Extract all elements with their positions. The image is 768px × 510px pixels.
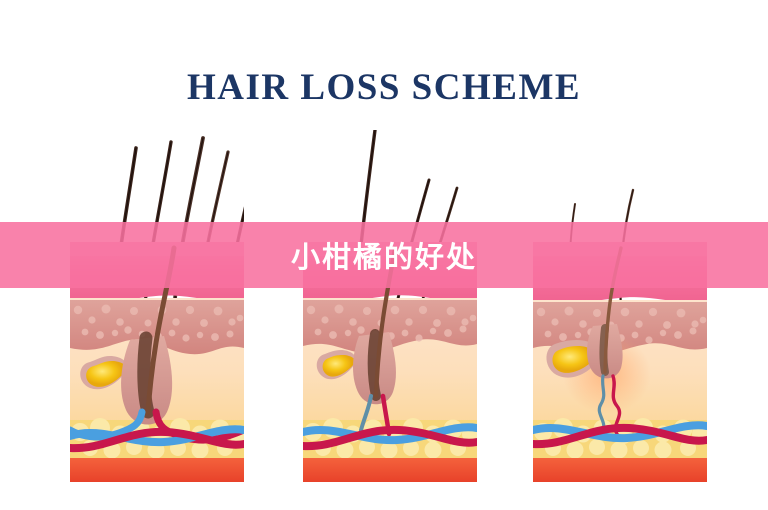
page-title: HAIR LOSS SCHEME [0,66,768,109]
watermark-text: 小柑橘的好处 [0,222,768,288]
muscle-layer [303,458,477,482]
muscle-layer [70,458,244,482]
panel-stage-1 [70,130,244,482]
panel-stage-2 [303,130,477,482]
muscle-layer [533,458,707,482]
panel-stage-3 [533,130,707,482]
illustration-page: HAIR LOSS SCHEME [0,0,768,510]
